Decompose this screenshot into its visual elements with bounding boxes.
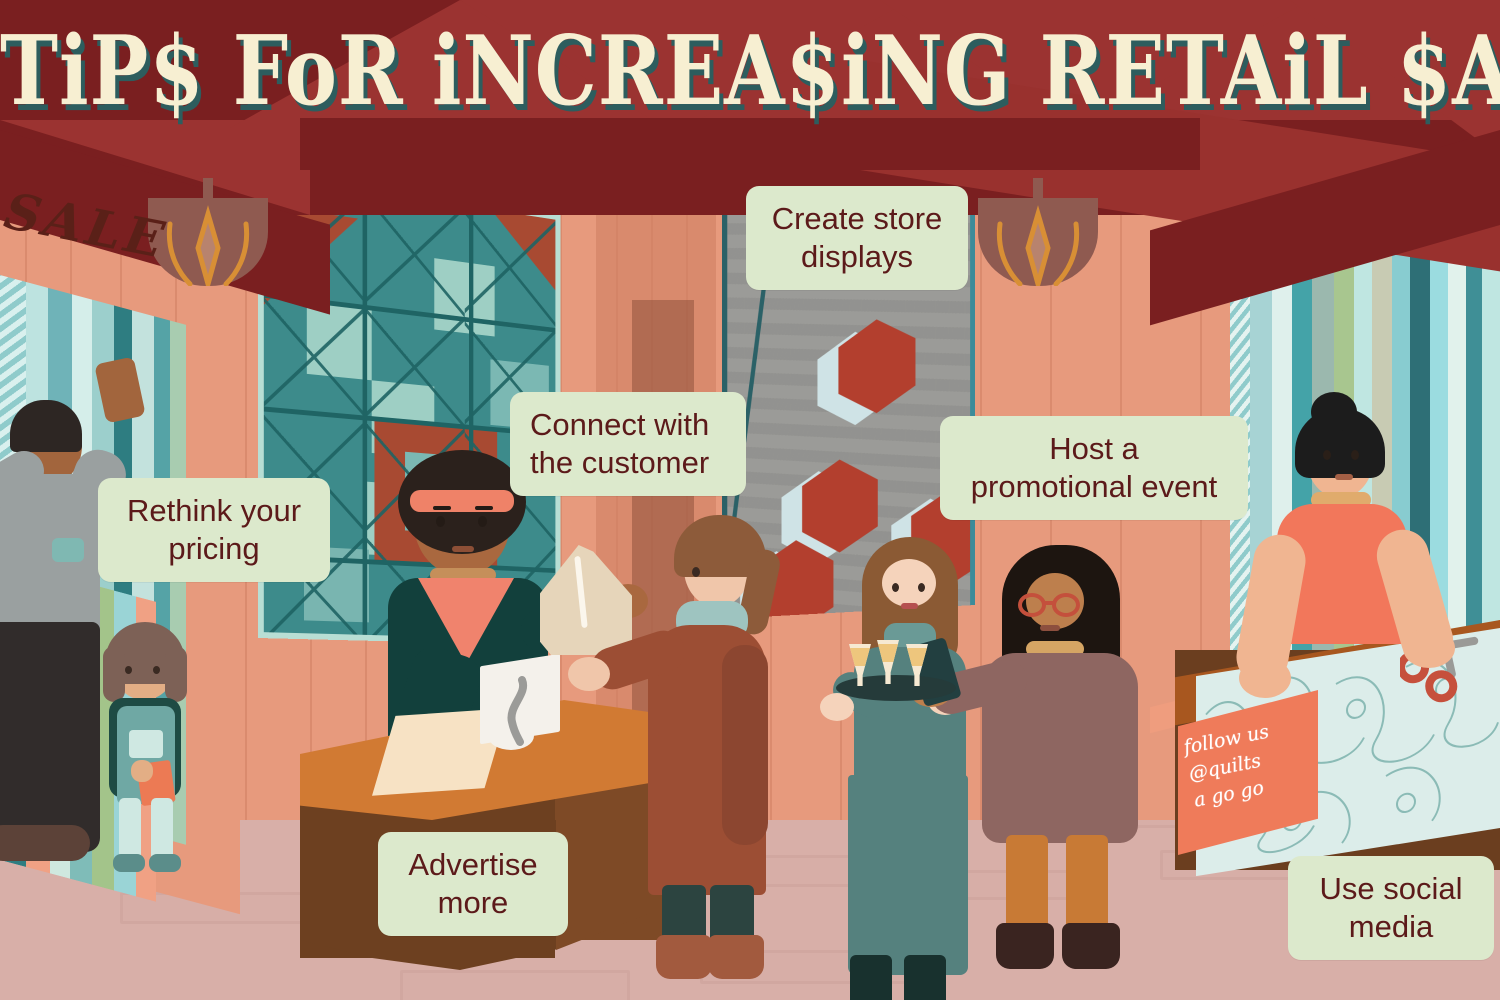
callout-line-2: displays <box>766 238 948 276</box>
callout-line-2: media <box>1308 908 1474 946</box>
person-girl-with-book <box>95 620 205 870</box>
page-title-text: TiP$ FoR iNCREA$iNG RETAiL $ALE$ <box>0 16 1500 127</box>
callout-line-2: the customer <box>530 444 726 482</box>
callout-line-1: Create store <box>766 200 948 238</box>
callout-line-2: more <box>398 884 548 922</box>
pendant-lamp-right <box>978 178 1098 286</box>
person-server-champagne <box>838 535 988 935</box>
callout-use-social-media[interactable]: Use social media <box>1288 856 1494 960</box>
callout-create-displays[interactable]: Create store displays <box>746 186 968 290</box>
callout-host-promo-event[interactable]: Host a promotional event <box>940 416 1248 520</box>
callout-line-1: Host a <box>960 430 1228 468</box>
illustration-canvas: SALE <box>0 0 1500 1000</box>
callout-line-1: Use social <box>1308 870 1474 908</box>
callout-line-2: promotional event <box>960 468 1228 506</box>
callout-line-1: Rethink your <box>118 492 310 530</box>
callout-line-2: pricing <box>118 530 310 568</box>
person-shopper-phone <box>978 545 1148 945</box>
callout-line-1: Connect with <box>530 406 726 444</box>
page-title: TiP$ FoR iNCREA$iNG RETAiL $ALE$ <box>0 16 1500 127</box>
person-cutter-fabric <box>1265 400 1445 680</box>
callout-line-1: Advertise <box>398 846 548 884</box>
monitor-stand-cord <box>500 676 534 746</box>
callout-rethink-pricing[interactable]: Rethink your pricing <box>98 478 330 582</box>
person-customer-coat <box>618 515 778 975</box>
champagne-tray <box>836 675 956 701</box>
callout-connect-customer[interactable]: Connect with the customer <box>510 392 746 496</box>
callout-advertise-more[interactable]: Advertise more <box>378 832 568 936</box>
